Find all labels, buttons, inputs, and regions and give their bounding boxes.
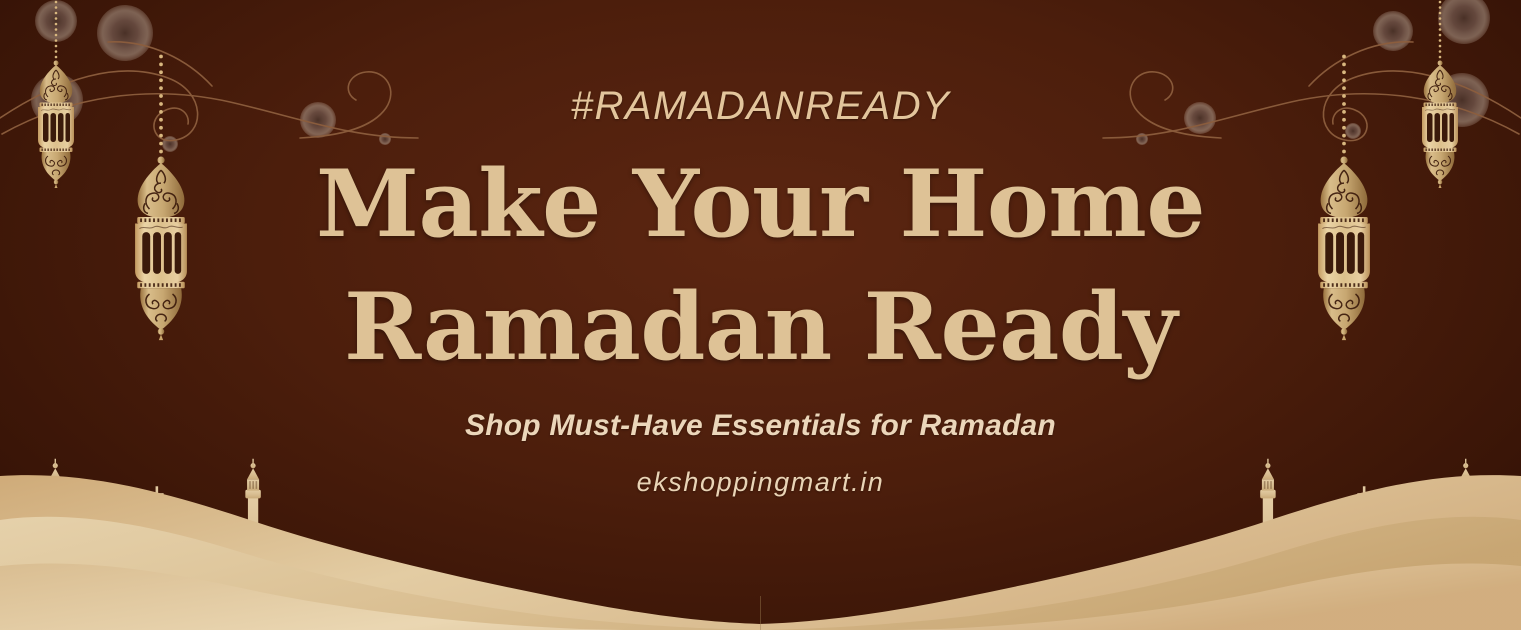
ramadan-promo-banner: #RAMADANREADY Make Your Home Ramadan Rea… [0, 0, 1521, 630]
skyline-dunes-layer [0, 0, 1521, 630]
